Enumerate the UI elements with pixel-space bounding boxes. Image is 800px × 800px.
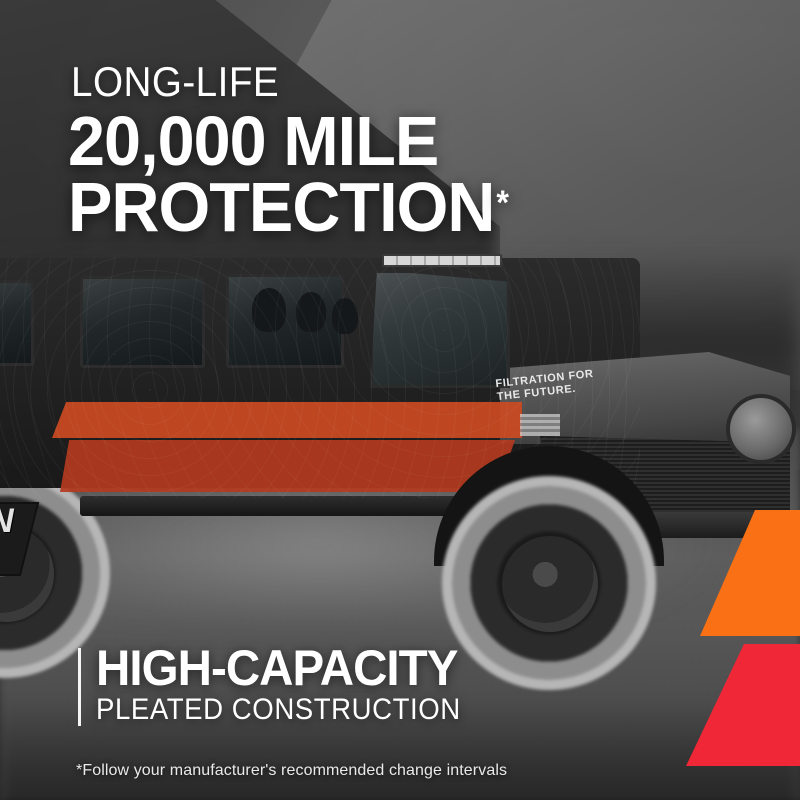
headline: 20,000 MILE PROTECTION*	[68, 108, 506, 240]
subhead-divider	[78, 648, 81, 726]
subhead-subtitle: PLEATED CONSTRUCTION	[96, 694, 461, 726]
promo-banner: FILTRATION FOR THE FUTURE. K&N LONG-LIFE…	[0, 0, 800, 800]
headline-kicker: LONG-LIFE	[71, 60, 279, 104]
text-layer: LONG-LIFE 20,000 MILE PROTECTION* HIGH-C…	[0, 0, 800, 800]
subhead-title: HIGH-CAPACITY	[96, 642, 457, 694]
footnote-marker: *	[496, 184, 508, 222]
footnote-text: *Follow your manufacturer's recommended …	[76, 762, 507, 780]
headline-line-2-text: PROTECTION	[68, 168, 494, 246]
headline-line-2: PROTECTION*	[68, 174, 506, 240]
